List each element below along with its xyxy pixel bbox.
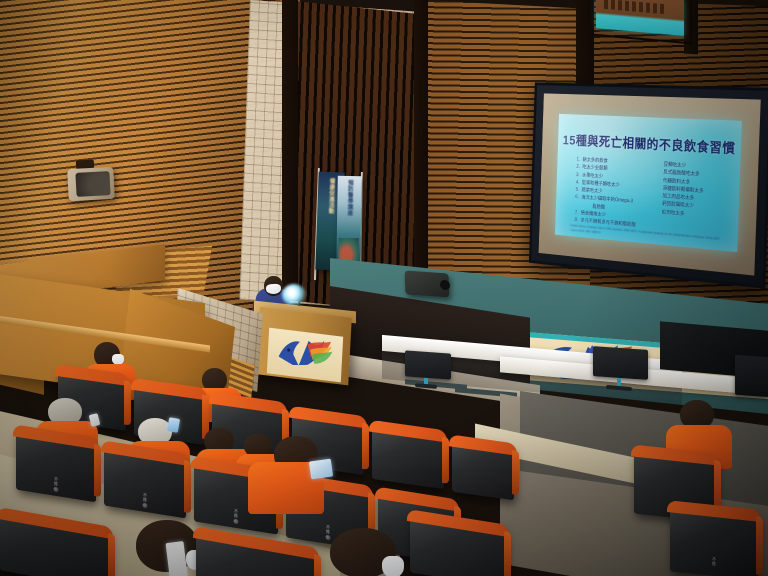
table-row[interactable]	[452, 438, 514, 501]
wall-pillar-left	[282, 0, 298, 297]
seat-number: 不推	[711, 556, 717, 565]
table-row[interactable]	[410, 512, 506, 576]
monitor-center	[593, 346, 648, 380]
slide-left-column: 1.鈉太多的飲食 2.吃太少全穀類 3.水果吃太少 4.堅果和種子類吃太少 5.…	[571, 156, 646, 223]
organization-dove-logo	[275, 333, 335, 374]
monitor-right	[735, 355, 768, 398]
seat-number: 不推	[142, 493, 148, 503]
slide-body: 1.鈉太多的飲食 2.吃太少全穀類 3.水果吃太少 4.堅果和種子類吃太少 5.…	[571, 156, 731, 230]
table-row[interactable]: 不推	[16, 428, 96, 503]
monitor-left	[405, 350, 451, 379]
person-face-mask	[382, 556, 404, 576]
speaker-grille-icon	[75, 171, 110, 197]
table-row[interactable]: 不推	[670, 503, 758, 576]
seat-number: 不推	[53, 477, 59, 487]
projector-lens-icon	[440, 279, 450, 290]
table-row[interactable]	[372, 423, 444, 489]
screen-mat-border: 15種與死亡相關的不良飲食習慣 1.鈉太多的飲食 2.吃太少全穀類 3.水果吃太…	[539, 93, 761, 275]
handheld-tablet	[309, 459, 333, 480]
slide-title: 15種與死亡相關的不良飲食習慣	[558, 130, 741, 158]
projection-screen: 15種與死亡相關的不良飲食習慣 1.鈉太多的飲食 2.吃太少全穀類 3.水果吃太…	[529, 82, 768, 288]
banner-right-text: 預防醫學講座	[346, 180, 353, 216]
banner-left-text: 健康促進活動	[327, 178, 335, 214]
podium-light-glow	[282, 284, 306, 306]
table-row[interactable]: 不推	[104, 444, 186, 519]
wall-pillar-center	[414, 0, 428, 284]
seat-number: 不推	[325, 525, 331, 535]
lecture-hall-photo: 15種與死亡相關的不良飲食習慣 1.鈉太多的飲食 2.吃太少全穀類 3.水果吃太…	[0, 0, 768, 576]
seat-number: 不推	[233, 509, 239, 519]
projected-slide: 15種與死亡相關的不良飲食習慣 1.鈉太多的飲食 2.吃太少全穀類 3.水果吃太…	[555, 114, 742, 252]
slide-right-column: 豆類吃太少 反式脂肪酸吃太多 代糖飲料太多 添糖飲料類攝取太多 加工肉品吃太多 …	[649, 160, 730, 230]
podium-front-banner	[267, 328, 343, 383]
vertical-banner-right: 預防醫學講座	[336, 176, 362, 270]
